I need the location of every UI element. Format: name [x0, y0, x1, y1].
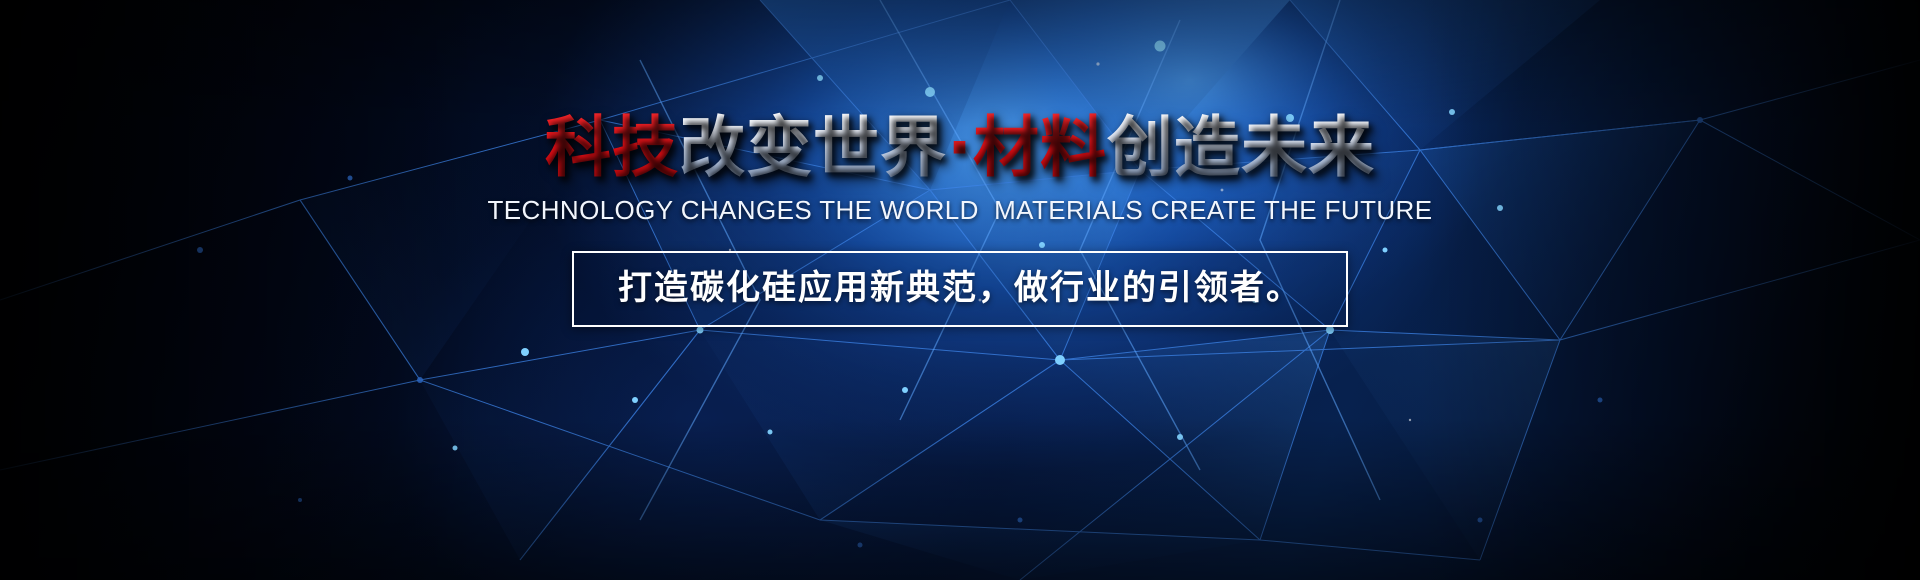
- banner-headline: 科技改变世界·材料创造未来: [545, 113, 1375, 183]
- headline-segment-silver-1: 改变世界: [679, 109, 947, 186]
- headline-segment-silver-2: 创造未来: [1107, 109, 1375, 186]
- banner-subtitle: TECHNOLOGY CHANGES THE WORLD MATERIALS C…: [488, 195, 1433, 225]
- hero-banner: 科技改变世界·材料创造未来 TECHNOLOGY CHANGES THE WOR…: [0, 0, 1920, 580]
- headline-segment-red-2: 材料: [973, 109, 1107, 186]
- headline-separator-dot: ·: [947, 109, 973, 186]
- slogan-text: 打造碳化硅应用新典范，做行业的引领者。: [618, 267, 1302, 309]
- headline-segment-red-1: 科技: [545, 109, 679, 186]
- slogan-box: 打造碳化硅应用新典范，做行业的引领者。: [572, 251, 1348, 327]
- banner-content: 科技改变世界·材料创造未来 TECHNOLOGY CHANGES THE WOR…: [0, 0, 1920, 580]
